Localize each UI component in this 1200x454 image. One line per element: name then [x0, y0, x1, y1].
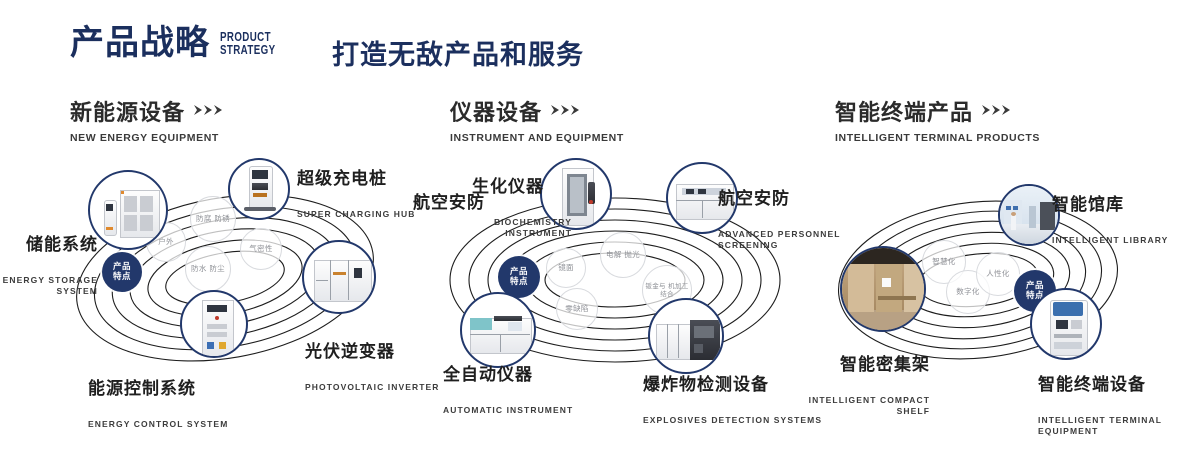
section-title-en: INSTRUMENT AND EQUIPMENT — [450, 132, 624, 144]
header-title-en: PRODUCT STRATEGY — [220, 31, 314, 60]
label-en: INTELLIGENT COMPACT SHELF — [790, 395, 930, 416]
core-line-1: 产品 — [113, 262, 131, 272]
core-line-2: 特点 — [113, 272, 131, 282]
section-title-cn: 智能终端产品 — [835, 95, 973, 127]
label-cn: 能源控制系统 — [88, 380, 288, 399]
compact-shelving-photo — [842, 248, 924, 330]
label-en: INTELLIGENT TERMINAL EQUIPMENT — [1038, 415, 1200, 436]
section-title-instrument: 仪器设备 INSTRUMENT AND EQUIPMENT — [450, 95, 624, 144]
label-cn: 生化仪器 — [472, 178, 592, 197]
label-cn: 储能系统 — [0, 236, 98, 255]
label-intelligent-library: 智能馆库 INTELLIGENT LIBRARY — [1052, 178, 1200, 264]
label-en: BIOCHEMISTRY INSTRUMENT — [472, 217, 572, 238]
section-title-cn: 新能源设备 — [70, 95, 185, 127]
keyword-bubble: 防水 防尘 — [185, 246, 231, 292]
bubble-charging-hub[interactable] — [228, 158, 290, 220]
label-cn: 智能馆库 — [1052, 196, 1200, 215]
poster-header: 产品战略 PRODUCT STRATEGY — [70, 26, 340, 60]
label-terminal-equipment: 智能终端设备 INTELLIGENT TERMINAL EQUIPMENT — [1038, 358, 1200, 454]
section-title-en: INTELLIGENT TERMINAL PRODUCTS — [835, 132, 1040, 144]
bubble-intelligent-library[interactable] — [998, 184, 1060, 246]
label-automatic-instrument: 全自动仪器 AUTOMATIC INSTRUMENT — [443, 348, 613, 434]
keyword-bubble: 零缺陷 — [556, 288, 598, 330]
chevron-triple-right-icon — [551, 104, 583, 118]
charging-pile-photo — [230, 160, 288, 218]
bubble-pv-inverter[interactable] — [302, 240, 376, 314]
keyword-bubble: 气密性 — [240, 228, 282, 270]
smart-library-room-photo — [1000, 186, 1058, 244]
label-en: ENERGY CONTROL SYSTEM — [88, 419, 288, 430]
core-line-2: 特点 — [510, 277, 528, 287]
section-title-cn: 仪器设备 — [450, 95, 542, 127]
label-cn: 全自动仪器 — [443, 366, 613, 385]
energy-storage-cabinet-photo — [90, 172, 166, 248]
header-subtitle: 打造无敌产品和服务 — [332, 33, 584, 72]
label-energy-control: 能源控制系统 ENERGY CONTROL SYSTEM — [88, 362, 288, 448]
section-title-new-energy: 新能源设备 NEW ENERGY EQUIPMENT — [70, 95, 226, 144]
poster-canvas: 产品战略 PRODUCT STRATEGY 打造无敌产品和服务 新能源设备 NE… — [0, 0, 1200, 422]
label-compact-shelf: 智能密集架 INTELLIGENT COMPACT SHELF — [790, 338, 930, 434]
bubble-compact-shelf[interactable] — [840, 246, 926, 332]
chevron-triple-right-icon — [982, 104, 1014, 118]
header-title-cn: 产品战略 — [70, 26, 210, 60]
core-bubble-product-features: 产品 特点 — [102, 252, 142, 292]
bubble-energy-control[interactable] — [180, 290, 248, 358]
core-line-1: 产品 — [510, 267, 528, 277]
section-title-intelligent: 智能终端产品 INTELLIGENT TERMINAL PRODUCTS — [835, 95, 1040, 144]
bubble-terminal-equipment[interactable] — [1030, 288, 1102, 360]
label-cn: 智能密集架 — [790, 356, 930, 375]
section-title-en: NEW ENERGY EQUIPMENT — [70, 132, 226, 144]
bubble-energy-storage[interactable] — [88, 170, 168, 250]
label-en: AUTOMATIC INSTRUMENT — [443, 405, 613, 416]
control-cabinet-photo — [182, 292, 246, 356]
pv-inverter-cabinet-photo — [304, 242, 374, 312]
label-energy-storage: 储能系统 ENERGY STORAGE SYSTEM — [0, 218, 98, 314]
label-en: ENERGY STORAGE SYSTEM — [0, 275, 98, 296]
label-cn: 智能终端设备 — [1038, 376, 1200, 395]
keyword-bubble: 电解 抛光 — [600, 232, 646, 278]
label-biochemistry-instrument: 生化仪器 BIOCHEMISTRY INSTRUMENT — [472, 160, 592, 256]
self-service-kiosk-photo — [1032, 290, 1100, 358]
chevron-triple-right-icon — [194, 104, 226, 118]
label-en: INTELLIGENT LIBRARY — [1052, 235, 1200, 246]
